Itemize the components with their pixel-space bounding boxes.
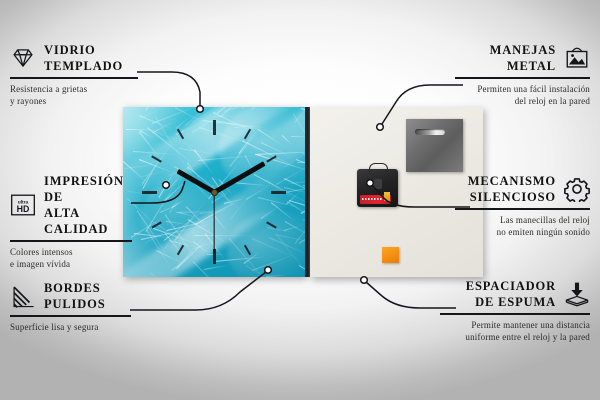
desc-line-1: Resistencia a grietas — [10, 83, 138, 96]
feature-description: Permiten una fácil instalación del reloj… — [455, 83, 590, 109]
mechanism-shaft — [373, 179, 382, 189]
feature-bordes-pulidos[interactable]: BORDES PULIDOS Superficie lisa y segura — [10, 280, 131, 333]
metal-hanger-plate — [406, 119, 463, 172]
feature-header: MECANISMO SILENCIOSO — [455, 173, 590, 205]
diamond-icon — [10, 45, 36, 71]
desc-line-2: no emiten ningún sonido — [455, 226, 590, 239]
feature-title: BORDES PULIDOS — [44, 280, 106, 312]
product-image — [123, 107, 483, 277]
feature-divider — [10, 315, 131, 317]
gear-icon — [564, 176, 590, 202]
feature-header: ultra HD IMPRESIÓN DE ALTA CALIDAD — [10, 173, 132, 237]
feature-description: Las manecillas del reloj no emiten ningú… — [455, 214, 590, 240]
title-line-2: DE ESPUMA — [466, 294, 556, 310]
title-line-1: MECANISMO — [468, 173, 556, 189]
desc-line-2: uniforme entre el reloj y la pared — [440, 331, 590, 344]
desc-line-2: e imagen vívida — [10, 258, 132, 271]
clock-tick — [142, 191, 157, 194]
title-line-1: BORDES — [44, 280, 106, 296]
feature-divider — [440, 313, 590, 315]
feature-header: BORDES PULIDOS — [10, 280, 131, 312]
title-line-2: TEMPLADO — [44, 58, 123, 74]
desc-line-1: Superficie lisa y segura — [10, 321, 131, 334]
clock-tick — [271, 191, 286, 194]
feature-title: MANEJAS METAL — [490, 42, 556, 74]
ultra-hd-icon: ultra HD — [10, 192, 36, 218]
title-line-1: ESPACIADOR — [466, 278, 556, 294]
desc-line-1: Colores intensos — [10, 246, 132, 259]
desc-line-1: Permite mantener una distancia — [440, 319, 590, 332]
feature-title: IMPRESIÓN DE ALTA CALIDAD — [44, 173, 132, 237]
title-line-1: VIDRIO — [44, 42, 123, 58]
battery-label-marks — [362, 198, 383, 200]
feature-divider — [10, 240, 132, 242]
foam-spacer — [382, 247, 399, 263]
feature-mecanismo-silencioso[interactable]: MECANISMO SILENCIOSO Las manecillas del … — [455, 173, 590, 239]
feature-description: Permite mantener una distancia uniforme … — [440, 319, 590, 345]
hanger-keyhole-slot — [415, 129, 445, 135]
clock-face-panel — [123, 107, 305, 277]
clock-tick — [213, 120, 216, 135]
feature-impresion-alta-calidad[interactable]: ultra HD IMPRESIÓN DE ALTA CALIDAD Super… — [10, 173, 132, 271]
feature-title: VIDRIO TEMPLADO — [44, 42, 123, 74]
desc-line-2: del reloj en la pared — [455, 95, 590, 108]
title-line-2: ALTA CALIDAD — [44, 205, 132, 237]
feature-divider — [10, 77, 138, 79]
feature-description: Superficie lisa y segura Colores intenso… — [10, 246, 132, 272]
feature-title: ESPACIADOR DE ESPUMA — [466, 278, 556, 310]
feature-vidrio-templado[interactable]: VIDRIO TEMPLADO Resistencia a grietas y … — [10, 42, 138, 108]
wall-frame-hanger-icon — [564, 45, 590, 71]
leader-dot-espaciador — [361, 277, 368, 284]
battery-compartment — [360, 195, 391, 204]
desc-line-2: y rayones — [10, 95, 138, 108]
feature-title: MECANISMO SILENCIOSO — [468, 173, 556, 205]
battery-warning-sticker — [384, 192, 390, 201]
feature-header: VIDRIO TEMPLADO — [10, 42, 138, 74]
feature-divider — [455, 77, 590, 79]
clock-center-hub — [211, 189, 218, 196]
title-line-1: MANEJAS — [490, 42, 556, 58]
feature-header: ESPACIADOR DE ESPUMA — [440, 278, 590, 310]
feature-description: Superficie lisa y segura — [10, 321, 131, 334]
polished-edges-icon — [10, 283, 36, 309]
feather-strand — [204, 265, 229, 271]
title-line-1: IMPRESIÓN DE — [44, 173, 132, 205]
feature-description: Resistencia a grietas y rayones — [10, 83, 138, 109]
title-line-2: PULIDOS — [44, 296, 106, 312]
clock-sec-hand — [213, 192, 214, 254]
infographic-canvas: VIDRIO TEMPLADO Resistencia a grietas y … — [0, 0, 600, 400]
clock-mechanism — [357, 169, 398, 207]
feature-divider — [455, 208, 590, 210]
desc-line-1: Permiten una fácil instalación — [455, 83, 590, 96]
feature-espaciador-espuma[interactable]: ESPACIADOR DE ESPUMA Permite mantener un… — [440, 278, 590, 344]
feature-manejas-metal[interactable]: MANEJAS METAL Permiten una fácil instala… — [455, 42, 590, 108]
mechanism-hook — [369, 163, 388, 173]
feature-header: MANEJAS METAL — [455, 42, 590, 74]
title-line-2: METAL — [490, 58, 556, 74]
foam-spacer-arrow-icon — [564, 281, 590, 307]
leader-vidrio-templado — [137, 72, 200, 106]
desc-line-1: Las manecillas del reloj — [455, 214, 590, 227]
leader-bordes-pulidos — [130, 272, 266, 310]
ultra-hd-icon-main-text: HD — [17, 204, 30, 214]
title-line-2: SILENCIOSO — [468, 189, 556, 205]
